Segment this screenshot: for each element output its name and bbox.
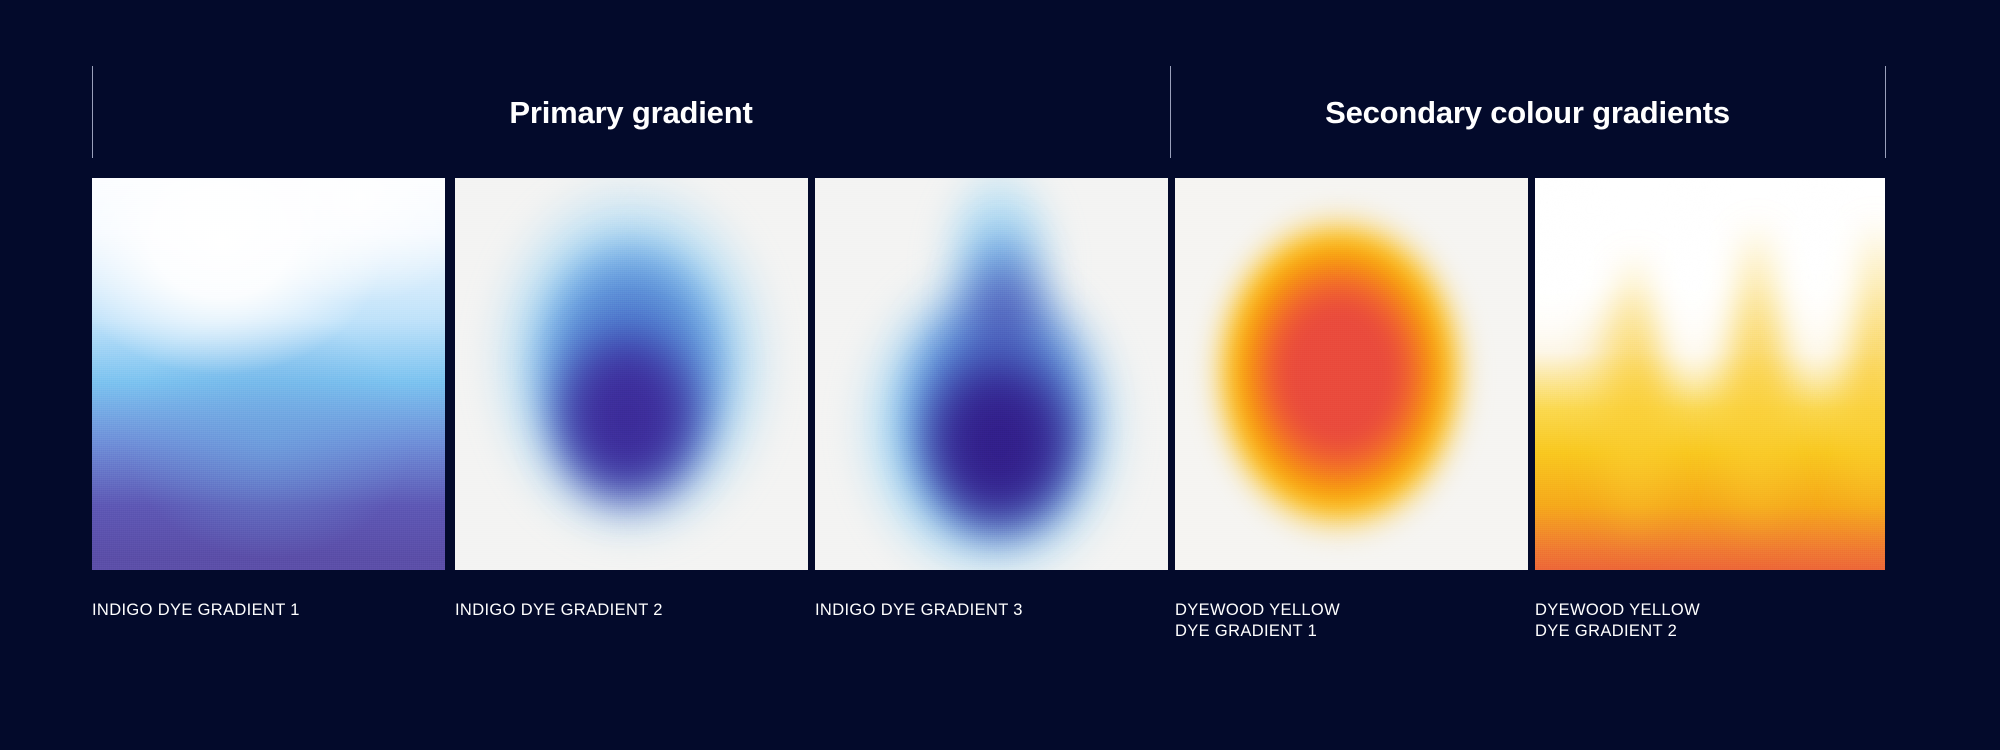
swatch-image-dyewood-2 — [1535, 178, 1885, 570]
gradient-style-board: Primary gradient Secondary colour gradie… — [0, 0, 2000, 750]
swatch-cell-indigo-3[interactable]: INDIGO DYE GRADIENT 3 — [815, 178, 1168, 621]
swatch-cell-dyewood-2[interactable]: DYEWOOD YELLOW DYE GRADIENT 2 — [1535, 178, 1885, 642]
section-title-secondary: Secondary colour gradients — [1325, 97, 1730, 128]
swatch-caption: INDIGO DYE GRADIENT 2 — [455, 600, 808, 621]
swatch-cell-dyewood-1[interactable]: DYEWOOD YELLOW DYE GRADIENT 1 — [1175, 178, 1528, 642]
grain-overlay — [1535, 178, 1885, 570]
swatch-image-indigo-2 — [455, 178, 808, 570]
swatch-image-indigo-3 — [815, 178, 1168, 570]
swatch-caption: INDIGO DYE GRADIENT 1 — [92, 600, 445, 621]
grain-overlay — [1175, 178, 1528, 570]
swatch-caption: INDIGO DYE GRADIENT 3 — [815, 600, 1168, 621]
grain-overlay — [92, 178, 445, 570]
section-header-secondary: Secondary colour gradients — [1170, 66, 1885, 158]
swatch-caption: DYEWOOD YELLOW DYE GRADIENT 2 — [1535, 600, 1885, 642]
grain-overlay — [815, 178, 1168, 570]
swatch-image-dyewood-1 — [1175, 178, 1528, 570]
swatch-image-indigo-1 — [92, 178, 445, 570]
divider-line-right — [1885, 66, 1886, 158]
section-title-primary: Primary gradient — [509, 97, 752, 128]
grain-overlay — [455, 178, 808, 570]
swatch-caption: DYEWOOD YELLOW DYE GRADIENT 1 — [1175, 600, 1528, 642]
section-header-primary: Primary gradient — [92, 66, 1170, 158]
swatch-cell-indigo-1[interactable]: INDIGO DYE GRADIENT 1 — [92, 178, 445, 621]
swatch-cell-indigo-2[interactable]: INDIGO DYE GRADIENT 2 — [455, 178, 808, 621]
section-header-band: Primary gradient Secondary colour gradie… — [0, 0, 2000, 165]
swatch-row: INDIGO DYE GRADIENT 1 INDIGO DYE GRADIEN… — [0, 178, 2000, 738]
